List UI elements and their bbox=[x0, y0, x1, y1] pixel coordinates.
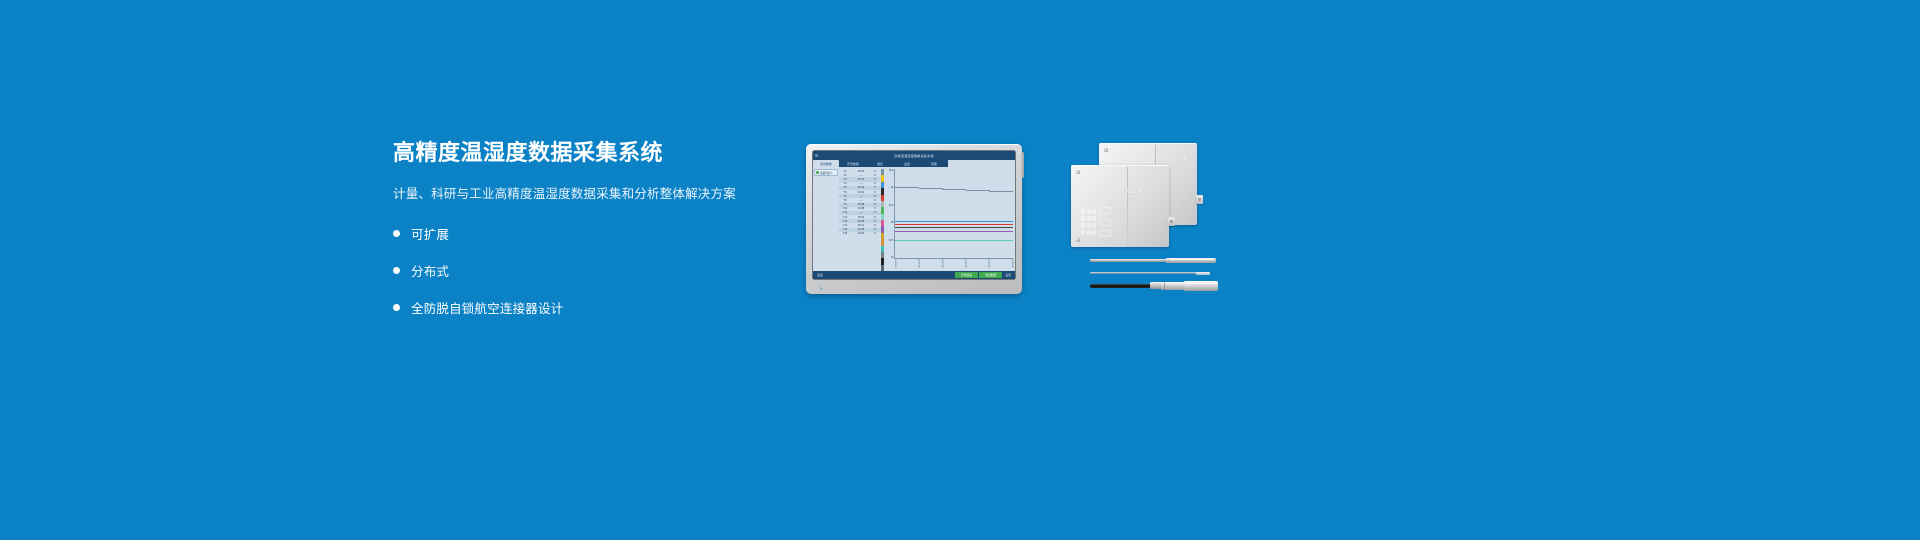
feature-bullet-list: 可扩展 分布式 全防脱自锁航空连接器设计 bbox=[393, 224, 813, 317]
cell-unit: ℃ bbox=[871, 232, 879, 235]
chart-series-segment bbox=[895, 187, 919, 188]
settings-button[interactable]: 设置 bbox=[1003, 273, 1013, 278]
enclosure-brand-label: INON bbox=[1122, 189, 1143, 195]
chart-series-segment bbox=[989, 191, 1013, 192]
port-row-icon bbox=[1100, 207, 1111, 237]
cell-unit: ℃ bbox=[871, 220, 879, 223]
cell-unit: ℃ bbox=[871, 191, 879, 194]
x-tick-label: 10:05:00 bbox=[917, 259, 919, 270]
sensor-probe-product-image bbox=[1090, 255, 1220, 301]
cell-value: 25.81 bbox=[851, 170, 871, 173]
cell-channel: T16 bbox=[839, 232, 851, 235]
panel-seam bbox=[1127, 167, 1128, 245]
page-subtitle: 计量、科研与工业高精度温湿度数据采集和分析整体解决方案 bbox=[393, 186, 813, 204]
y-tick-label: 25 bbox=[885, 221, 894, 224]
chart-series-segment bbox=[895, 231, 919, 232]
cell-channel: T5 bbox=[839, 186, 851, 189]
cell-unit: ℃ bbox=[871, 170, 879, 173]
chart-series-segment bbox=[919, 224, 943, 225]
table-row[interactable]: T11 ---- ℃ bbox=[839, 211, 881, 215]
software-screen: 高精度温湿度数据采集系统 实时数据 历史数据 报表 设置 帮助 设备列表 1 bbox=[813, 151, 1015, 279]
channel-color-legend bbox=[881, 169, 884, 271]
list-item: 可扩展 bbox=[393, 224, 813, 243]
cell-value: ---- bbox=[851, 199, 871, 202]
cell-channel: T11 bbox=[839, 211, 851, 214]
x-tick-label: 10:10:00 bbox=[941, 259, 943, 270]
panel-pc-product-image: 高精度温湿度数据采集系统 实时数据 历史数据 报表 设置 帮助 设备列表 1 bbox=[806, 144, 1022, 294]
table-row[interactable]: T12 25.94 ℃ bbox=[839, 215, 881, 219]
cell-channel: T6 bbox=[839, 191, 851, 194]
cell-unit: ℃ bbox=[871, 228, 879, 231]
chart-series-segment bbox=[966, 221, 990, 222]
tab-report[interactable]: 报表 bbox=[867, 160, 893, 167]
cell-channel: T10 bbox=[839, 207, 851, 210]
chart-x-axis: 10:00:0010:05:0010:10:0010:15:0010:20:00… bbox=[894, 259, 1013, 270]
cell-value: ---- bbox=[851, 211, 871, 214]
banner-text-block: 高精度温湿度数据采集系统 计量、科研与工业高精度温湿度数据采集和分析整体解决方案… bbox=[393, 140, 813, 335]
table-row[interactable]: T2 ---- ℃ bbox=[839, 173, 881, 177]
cell-value: ---- bbox=[851, 174, 871, 177]
device-tree-label: 设备列表 1 bbox=[820, 171, 833, 175]
table-row[interactable]: T14 26.11 ℃ bbox=[839, 223, 881, 227]
software-tab-bar: 实时数据 历史数据 报表 设置 帮助 bbox=[813, 159, 1015, 167]
cell-channel: T1 bbox=[839, 170, 851, 173]
chart-series-segment bbox=[942, 221, 966, 222]
cell-unit: ℃ bbox=[871, 216, 879, 219]
chart-series-segment bbox=[919, 227, 943, 228]
x-tick-label: 10:15:00 bbox=[964, 259, 966, 270]
cell-channel: T3 bbox=[839, 178, 851, 181]
x-tick-label: 10:25:00 bbox=[1011, 259, 1013, 270]
tab-help[interactable]: 帮助 bbox=[921, 160, 947, 167]
chart-series-segment bbox=[989, 224, 1013, 225]
export-data-button[interactable]: 导出数据 bbox=[979, 272, 1002, 278]
chart-series-segment bbox=[989, 240, 1013, 241]
status-online-icon bbox=[816, 171, 819, 174]
connector-grid-icon bbox=[1081, 209, 1096, 235]
tab-bar-filler bbox=[948, 160, 1015, 167]
probe-cable bbox=[1090, 284, 1152, 288]
y-tick-label: 24.5 bbox=[885, 239, 894, 242]
probe-tip bbox=[1166, 258, 1216, 263]
chart-series-segment bbox=[942, 240, 966, 241]
cell-channel: T12 bbox=[839, 216, 851, 219]
tab-history-data[interactable]: 历史数据 bbox=[840, 160, 866, 167]
table-row[interactable]: T8 ---- ℃ bbox=[839, 198, 881, 202]
action-button-group: 开始采集 导出数据 设置 bbox=[955, 272, 1013, 278]
cell-unit: ℃ bbox=[871, 182, 879, 185]
chart-series-segment bbox=[966, 231, 990, 232]
list-item: 分布式 bbox=[393, 261, 813, 280]
software-bottom-bar: 退出 开始采集 导出数据 设置 bbox=[813, 271, 1015, 279]
cell-value: 25.94 bbox=[851, 216, 871, 219]
chart-series-segment bbox=[919, 221, 943, 222]
chart-series-segment bbox=[942, 189, 966, 190]
cell-channel: T14 bbox=[839, 224, 851, 227]
list-item: 全防脱自锁航空连接器设计 bbox=[393, 298, 813, 317]
y-tick-label: 26 bbox=[885, 186, 894, 189]
table-row[interactable]: T7 ---- ℃ bbox=[839, 194, 881, 198]
monitor-screen-frame: 高精度温湿度数据采集系统 实时数据 历史数据 报表 设置 帮助 设备列表 1 bbox=[812, 150, 1016, 280]
bullet-dot-icon bbox=[393, 230, 400, 237]
cell-unit: ℃ bbox=[871, 174, 879, 177]
cell-value: 26.11 bbox=[851, 224, 871, 227]
y-tick-label: 26.5 bbox=[885, 169, 894, 172]
cell-unit: ℃ bbox=[871, 195, 879, 198]
tab-settings[interactable]: 设置 bbox=[894, 160, 920, 167]
monitor-brand-logo-icon: ϟ bbox=[820, 287, 826, 291]
enclosure-brand-label: INON bbox=[1168, 157, 1189, 163]
cell-channel: T13 bbox=[839, 220, 851, 223]
cell-channel: T2 bbox=[839, 174, 851, 177]
chart-y-axis: 26.52625.52524.524 bbox=[885, 169, 894, 259]
connector-panel-graphic bbox=[1081, 205, 1111, 237]
connector-housing bbox=[1184, 281, 1218, 291]
chart-series-segment bbox=[989, 231, 1013, 232]
cell-value: 26.98 bbox=[851, 203, 871, 206]
cell-value: ---- bbox=[851, 195, 871, 198]
cell-unit: ℃ bbox=[871, 178, 879, 181]
bullet-dot-icon bbox=[393, 267, 400, 274]
chart-series-segment bbox=[942, 231, 966, 232]
cell-channel: T15 bbox=[839, 228, 851, 231]
y-tick-label: 24 bbox=[885, 256, 894, 259]
cell-channel: T7 bbox=[839, 195, 851, 198]
chart-series-segment bbox=[966, 240, 990, 241]
chart-series-segment bbox=[942, 224, 966, 225]
bullet-label: 分布式 bbox=[411, 261, 449, 280]
page-title: 高精度温湿度数据采集系统 bbox=[393, 140, 813, 166]
cell-value: 26.61 bbox=[851, 191, 871, 194]
cell-unit: ℃ bbox=[871, 211, 879, 214]
app-icon bbox=[815, 154, 818, 157]
x-tick-label: 10:00:00 bbox=[894, 259, 896, 270]
cell-unit: ℃ bbox=[871, 203, 879, 206]
legend-swatch bbox=[881, 265, 884, 271]
probe-shaft bbox=[1090, 272, 1210, 274]
chart-series-segment bbox=[942, 227, 966, 228]
chart-series-segment bbox=[989, 227, 1013, 228]
chart-series-segment bbox=[895, 224, 919, 225]
table-row[interactable]: T5 26.13 ℃ bbox=[839, 186, 881, 190]
cell-value: 26.13 bbox=[851, 186, 871, 189]
cell-channel: T9 bbox=[839, 203, 851, 206]
cell-value: 25.94 bbox=[851, 232, 871, 235]
chart-series-segment bbox=[895, 221, 919, 222]
bullet-label: 全防脱自锁航空连接器设计 bbox=[411, 298, 563, 317]
chart-series-segment bbox=[966, 224, 990, 225]
enclosure-front-unit: INON bbox=[1071, 165, 1169, 247]
screw-icon bbox=[1104, 148, 1108, 152]
chart-series-segment bbox=[919, 231, 943, 232]
software-title-bar: 高精度温湿度数据采集系统 bbox=[813, 151, 1015, 159]
chart-series-segment bbox=[919, 240, 943, 241]
table-row[interactable]: T16 25.94 ℃ bbox=[839, 232, 881, 236]
chart-plot-area bbox=[894, 169, 1013, 259]
trend-chart: 26.52625.52524.524 10:00:0010:05:0010:10… bbox=[885, 167, 1015, 271]
chart-series-segment bbox=[919, 188, 943, 189]
cell-value: 26.19 bbox=[851, 178, 871, 181]
app-title: 高精度温湿度数据采集系统 bbox=[894, 153, 934, 158]
table-row[interactable]: T6 26.61 ℃ bbox=[839, 190, 881, 194]
bullet-dot-icon bbox=[393, 304, 400, 311]
screw-icon bbox=[1076, 238, 1080, 242]
table-row[interactable]: T1 25.81 ℃ bbox=[839, 169, 881, 173]
table-row[interactable]: T13 26.28 ℃ bbox=[839, 219, 881, 223]
table-row[interactable]: T3 26.19 ℃ bbox=[839, 177, 881, 181]
screw-icon bbox=[1076, 170, 1080, 174]
cell-channel: T8 bbox=[839, 199, 851, 202]
mounting-lug bbox=[1196, 195, 1203, 204]
cell-value: ---- bbox=[851, 182, 871, 185]
cell-value: 26.88 bbox=[851, 207, 871, 210]
start-capture-button[interactable]: 开始采集 bbox=[955, 272, 978, 278]
chart-series-segment bbox=[895, 227, 919, 228]
probe-shaft bbox=[1090, 259, 1168, 262]
y-tick-label: 25.5 bbox=[885, 204, 894, 207]
tab-realtime-data[interactable]: 实时数据 bbox=[813, 160, 839, 167]
cell-value: 26.98 bbox=[851, 228, 871, 231]
chart-series-segment bbox=[895, 240, 919, 241]
device-tree-node[interactable]: 设备列表 1 bbox=[814, 169, 838, 176]
chart-series-segment bbox=[966, 227, 990, 228]
cell-value: 26.28 bbox=[851, 220, 871, 223]
cell-unit: ℃ bbox=[871, 224, 879, 227]
x-tick-label: 10:20:00 bbox=[988, 259, 990, 270]
cell-unit: ℃ bbox=[871, 207, 879, 210]
channel-table: T1 25.81 ℃ T2 ---- ℃ T3 26.19 ℃ bbox=[839, 167, 881, 271]
bullet-label: 可扩展 bbox=[411, 224, 449, 243]
device-tree-sidebar: 设备列表 1 bbox=[813, 167, 839, 271]
cell-unit: ℃ bbox=[871, 199, 879, 202]
chart-series-segment bbox=[989, 221, 1013, 222]
cell-unit: ℃ bbox=[871, 186, 879, 189]
mounting-lug bbox=[1168, 217, 1175, 226]
exit-button[interactable]: 退出 bbox=[815, 273, 825, 278]
cell-channel: T4 bbox=[839, 182, 851, 185]
chart-series-segment bbox=[966, 190, 990, 191]
connector-body bbox=[1161, 282, 1185, 291]
software-body: 设备列表 1 T1 25.81 ℃ T2 ---- ℃ T3 bbox=[813, 167, 1015, 271]
